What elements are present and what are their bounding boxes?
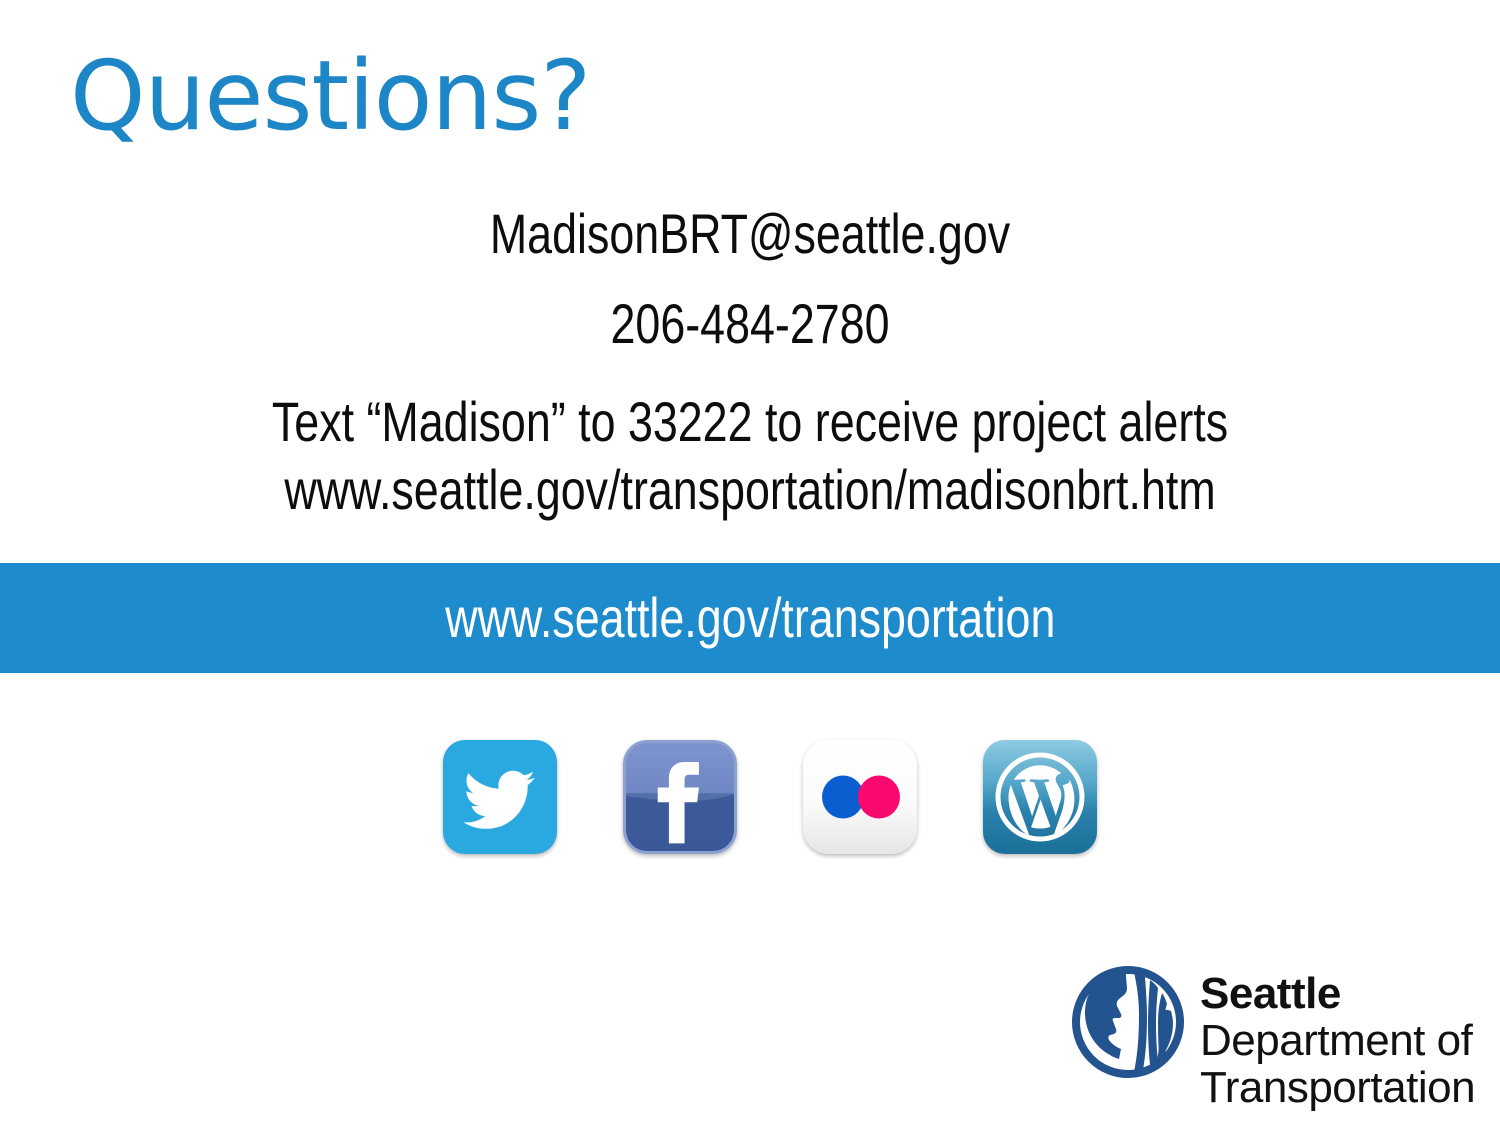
contact-email: MadisonBRT@seattle.gov [150,206,1350,262]
contact-info-block: MadisonBRT@seattle.gov 206-484-2780 Text… [0,206,1500,518]
sdot-wordmark: Seattle Department of Transportation [1200,966,1475,1110]
sdot-logo: Seattle Department of Transportation [1072,966,1475,1110]
slide-canvas: Questions? MadisonBRT@seattle.gov 206-48… [0,0,1500,1125]
contact-phone: 206-484-2780 [150,296,1350,352]
twitter-icon[interactable] [443,740,557,854]
flickr-icon[interactable] [803,740,917,854]
contact-project-url: www.seattle.gov/transportation/madisonbr… [150,462,1350,518]
facebook-icon[interactable] [623,740,737,854]
social-media-row [443,740,1097,854]
sdot-line-seattle: Seattle [1200,972,1475,1016]
sdot-line-department: Department of [1200,1019,1475,1063]
page-title: Questions? [70,46,590,147]
url-banner: www.seattle.gov/transportation [0,563,1500,673]
banner-url-text[interactable]: www.seattle.gov/transportation [445,590,1055,646]
sdot-line-transportation: Transportation [1200,1066,1475,1110]
wordpress-icon[interactable] [983,740,1097,854]
seattle-city-seal-icon [1072,966,1184,1078]
contact-text-alerts: Text “Madison” to 33222 to receive proje… [150,394,1350,450]
